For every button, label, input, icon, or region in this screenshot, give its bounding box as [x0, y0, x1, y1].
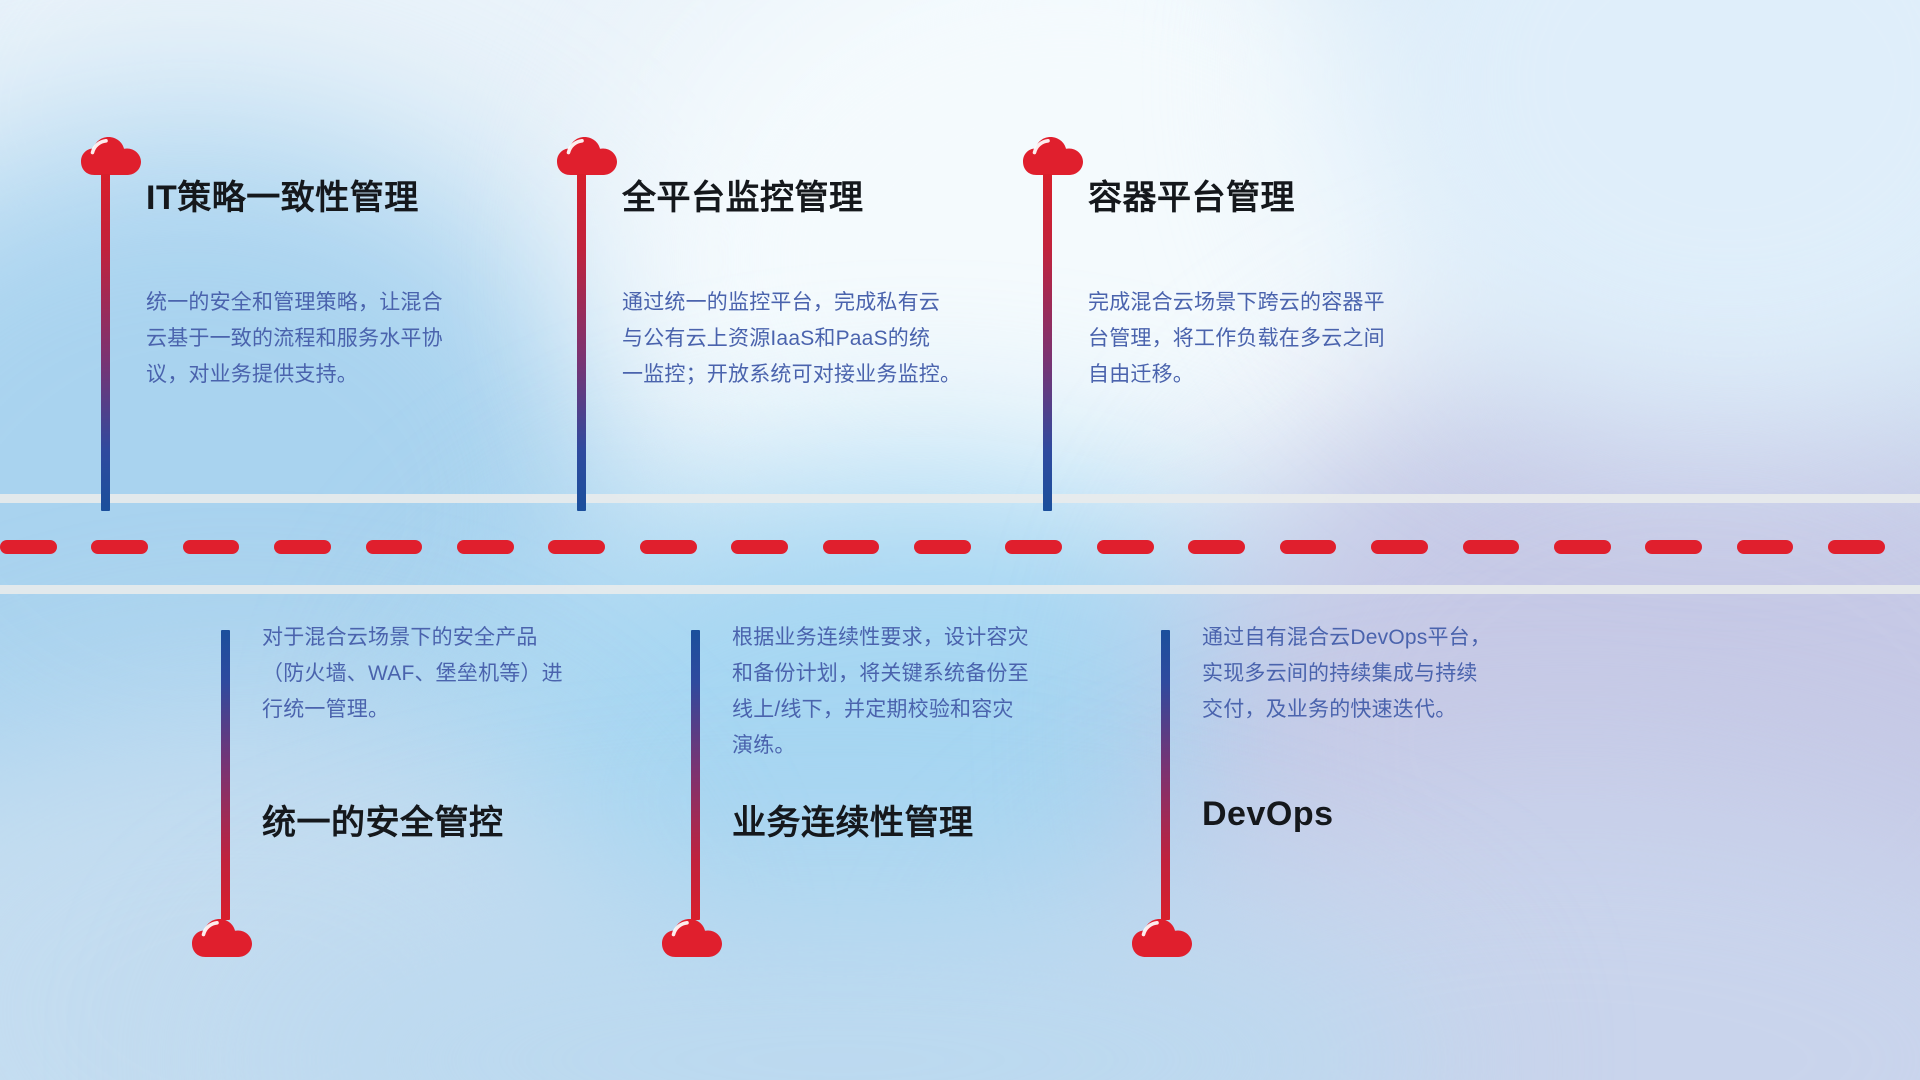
body-line: 根据业务连续性要求，设计容灾 [732, 620, 1112, 656]
card-heading: IT策略一致性管理 [146, 170, 419, 219]
card-heading: 业务连续性管理 [732, 795, 974, 844]
road-dash-segment [1280, 540, 1337, 554]
road-dash-segment [1645, 540, 1702, 554]
road-dash-segment [640, 540, 697, 554]
cloud-icon [80, 130, 142, 178]
cloud-icon [191, 912, 253, 960]
road-edge-top [0, 494, 1920, 503]
card-body: 通过统一的监控平台，完成私有云 与公有云上资源IaaS和PaaS的统 一监控；开… [622, 285, 1012, 393]
body-line: 与公有云上资源IaaS和PaaS的统 [622, 321, 1012, 357]
card-heading: 容器平台管理 [1088, 170, 1295, 219]
road-center-dashes [0, 540, 1920, 554]
road-dash-segment [274, 540, 331, 554]
body-line: （防火墙、WAF、堡垒机等）进 [262, 656, 622, 692]
road-dash-segment [91, 540, 148, 554]
body-line: 和备份计划，将关键系统备份至 [732, 656, 1112, 692]
road-dash-segment [1554, 540, 1611, 554]
road-dash-segment [457, 540, 514, 554]
card-heading: DevOps [1202, 795, 1334, 834]
body-line: 完成混合云场景下跨云的容器平 [1088, 285, 1478, 321]
body-line: 自由迁移。 [1088, 357, 1478, 393]
road-dash-segment [1371, 540, 1428, 554]
card-body: 对于混合云场景下的安全产品 （防火墙、WAF、堡垒机等）进 行统一管理。 [262, 620, 622, 728]
road-dash-segment [731, 540, 788, 554]
card-body: 完成混合云场景下跨云的容器平 台管理，将工作负载在多云之间 自由迁移。 [1088, 285, 1478, 393]
road-dash-segment [1005, 540, 1062, 554]
road-dash-segment [914, 540, 971, 554]
road-dash-segment [823, 540, 880, 554]
card-heading: 全平台监控管理 [622, 170, 864, 219]
body-line: 对于混合云场景下的安全产品 [262, 620, 622, 656]
road-dash-segment [1828, 540, 1885, 554]
body-line: 线上/线下，并定期校验和容灾 [732, 692, 1112, 728]
cloud-icon [661, 912, 723, 960]
road-edge-bottom [0, 585, 1920, 594]
cloud-icon [1131, 912, 1193, 960]
cloud-icon [1022, 130, 1084, 178]
body-line: 台管理，将工作负载在多云之间 [1088, 321, 1478, 357]
road-dash-segment [183, 540, 240, 554]
card-body: 通过自有混合云DevOps平台， 实现多云间的持续集成与持续 交付，及业务的快速… [1202, 620, 1572, 728]
stem-line [101, 174, 110, 511]
body-line: 通过统一的监控平台，完成私有云 [622, 285, 1012, 321]
stem-line [691, 630, 700, 920]
stem-line [1043, 174, 1052, 511]
card-body: 统一的安全和管理策略，让混合 云基于一致的流程和服务水平协 议，对业务提供支持。 [146, 285, 506, 393]
road-dash-segment [1463, 540, 1520, 554]
stem-line [1161, 630, 1170, 920]
card-body: 根据业务连续性要求，设计容灾 和备份计划，将关键系统备份至 线上/线下，并定期校… [732, 620, 1112, 764]
body-line: 统一的安全和管理策略，让混合 [146, 285, 506, 321]
stem-line [577, 174, 586, 511]
road-dash-segment [1097, 540, 1154, 554]
body-line: 演练。 [732, 728, 1112, 764]
road-dash-segment [366, 540, 423, 554]
card-heading: 统一的安全管控 [262, 795, 504, 844]
road-divider [0, 480, 1920, 610]
stem-line [221, 630, 230, 920]
road-dash-segment [0, 540, 57, 554]
body-line: 通过自有混合云DevOps平台， [1202, 620, 1572, 656]
cloud-icon [556, 130, 618, 178]
road-dash-segment [1737, 540, 1794, 554]
road-dash-segment [1188, 540, 1245, 554]
body-line: 云基于一致的流程和服务水平协 [146, 321, 506, 357]
road-dash-segment [548, 540, 605, 554]
body-line: 议，对业务提供支持。 [146, 357, 506, 393]
body-line: 一监控；开放系统可对接业务监控。 [622, 357, 1012, 393]
body-line: 实现多云间的持续集成与持续 [1202, 656, 1572, 692]
body-line: 行统一管理。 [262, 692, 622, 728]
body-line: 交付，及业务的快速迭代。 [1202, 692, 1572, 728]
